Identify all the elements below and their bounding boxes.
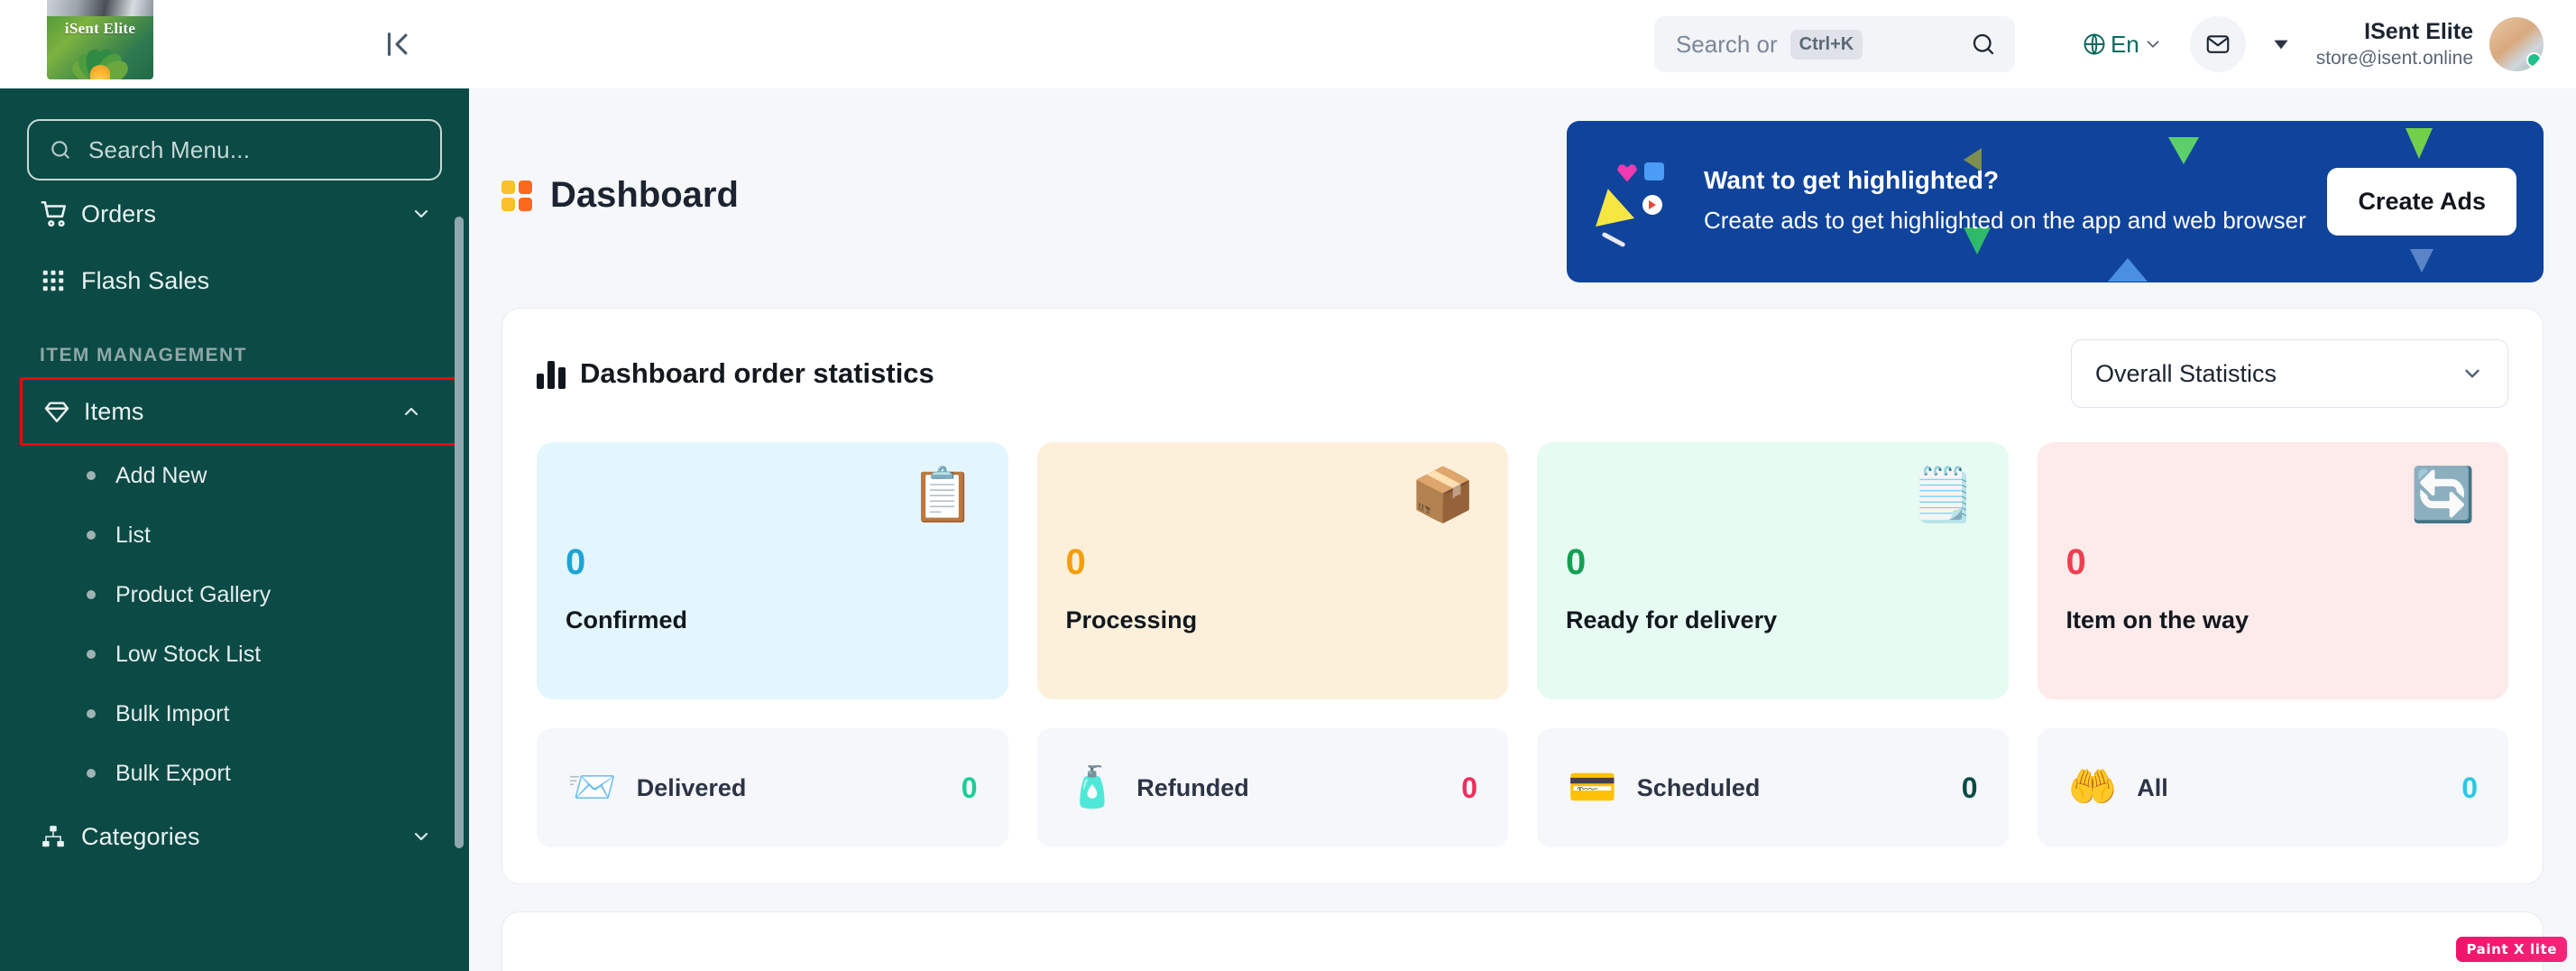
summary-card-value: 0: [1461, 772, 1477, 805]
caret-down-icon[interactable]: [2269, 32, 2293, 56]
refunded-icon: 🧴: [1068, 768, 1118, 808]
chevron-down-icon: [2461, 362, 2484, 385]
sidebar-subitem-label: List: [115, 522, 151, 549]
summary-card-value: 0: [1962, 772, 1978, 805]
sidebar-subitem-product-gallery[interactable]: Product Gallery: [0, 565, 469, 624]
status-card-value: 0: [1566, 542, 1980, 583]
sidebar-subitem-bulk-export[interactable]: Bulk Export: [0, 744, 469, 803]
status-card-value: 0: [2066, 542, 2480, 583]
globe-icon: [2082, 32, 2107, 57]
user-profile-text: ISent Elite store@isent.online: [2316, 18, 2473, 70]
cart-icon: [40, 199, 81, 229]
avatar[interactable]: [2489, 17, 2544, 71]
status-card-label: Ready for delivery: [1566, 606, 1980, 634]
watermark-badge: Paint X lite: [2456, 937, 2567, 962]
order-statistics-card: Dashboard order statistics Overall Stati…: [501, 308, 2544, 884]
next-section-card: [501, 911, 2544, 971]
sidebar-logo-area: iSent Elite: [0, 0, 469, 88]
summary-card-value: 0: [961, 772, 978, 805]
status-card-ready-for-delivery[interactable]: 🗒️ 0 Ready for delivery: [1537, 442, 2009, 699]
logo-photo: [47, 0, 153, 16]
sidebar-subitem-label: Bulk Import: [115, 701, 229, 727]
sidebar-item-flash-sales[interactable]: Flash Sales: [0, 247, 469, 314]
ads-banner: Want to get highlighted? Create ads to g…: [1567, 121, 2544, 282]
package-check-icon: 📦: [1411, 469, 1476, 522]
user-name: ISent Elite: [2316, 18, 2473, 46]
sitemap-icon: [40, 823, 81, 850]
status-card-processing[interactable]: 📦 0 Processing: [1037, 442, 1509, 699]
box-refresh-icon: 🔄: [2411, 469, 2476, 522]
chevron-down-icon: [2143, 34, 2163, 54]
page-header-row: Dashboard Want to get highlighted? Creat…: [501, 88, 2544, 282]
sidebar-menu-scroll: Search Menu... Orders: [0, 88, 469, 971]
logo-sun-icon: [90, 65, 110, 79]
bullet-icon: [87, 471, 96, 480]
decorative-triangle: [2168, 137, 2199, 164]
search-placeholder: Search or: [1676, 31, 1778, 59]
statistics-title: Dashboard order statistics: [580, 357, 934, 390]
mail-icon[interactable]: [2190, 16, 2246, 72]
search-shortcut-badge: Ctrl+K: [1790, 30, 1863, 60]
status-card-value: 0: [566, 542, 980, 583]
all-orders-icon: 🤲: [2068, 768, 2118, 808]
main-content: Dashboard Want to get highlighted? Creat…: [469, 88, 2576, 971]
chevron-down-icon: [409, 826, 433, 847]
clipboard-box-icon: 📋: [910, 469, 975, 522]
bullet-icon: [87, 769, 96, 778]
summary-card-label: Scheduled: [1637, 774, 1761, 802]
statistics-header: Dashboard order statistics Overall Stati…: [537, 339, 2508, 408]
bullet-icon: [87, 531, 96, 540]
dashboard-grid-icon: [501, 180, 532, 211]
sidebar-section-label: ITEM MANAGEMENT: [0, 314, 469, 377]
sidebar-item-label: Orders: [81, 200, 409, 228]
bullet-icon: [87, 650, 96, 659]
sidebar-item-label: Categories: [81, 823, 409, 851]
summary-card-all[interactable]: 🤲 All 0: [2038, 728, 2509, 847]
status-cards-row: 📋 0 Confirmed 📦 0 Processing 🗒️ 0 Ready …: [537, 442, 2508, 699]
status-card-label: Item on the way: [2066, 606, 2480, 634]
app-root: iSent Elite Search Menu...: [0, 0, 2576, 971]
sidebar-subitem-list[interactable]: List: [0, 505, 469, 565]
banner-text: Want to get highlighted? Create ads to g…: [1704, 166, 2326, 238]
statistics-filter-select[interactable]: Overall Statistics: [2071, 339, 2508, 408]
banner-title: Want to get highlighted?: [1704, 166, 2326, 195]
summary-cards-row: 📨 Delivered 0 🧴 Refunded 0 💳 Scheduled 0…: [537, 728, 2508, 847]
sidebar-subitem-label: Product Gallery: [115, 582, 271, 608]
collapse-left-icon[interactable]: [377, 24, 417, 64]
sidebar-subitem-label: Bulk Export: [115, 761, 231, 787]
sidebar-subitem-label: Add New: [115, 463, 207, 489]
status-card-label: Confirmed: [566, 606, 980, 634]
search-icon[interactable]: [1970, 31, 1997, 58]
status-badge: [2526, 52, 2542, 68]
summary-card-value: 0: [2461, 772, 2478, 805]
sidebar-item-categories[interactable]: Categories: [0, 803, 469, 870]
bullet-icon: [87, 709, 96, 718]
user-email: store@isent.online: [2316, 47, 2473, 70]
bullet-icon: [87, 590, 96, 599]
summary-card-label: Delivered: [637, 774, 747, 802]
decorative-triangle: [2410, 249, 2433, 273]
search-menu-input[interactable]: Search Menu...: [27, 119, 442, 180]
page-title: Dashboard: [550, 175, 739, 216]
scheduled-icon: 💳: [1568, 768, 1617, 808]
sidebar-item-items[interactable]: Items: [20, 377, 462, 446]
megaphone-icon: [1597, 157, 1680, 247]
sidebar-scrollbar[interactable]: [455, 217, 464, 848]
page-title-group: Dashboard: [501, 121, 739, 216]
status-card-value: 0: [1066, 542, 1480, 583]
sidebar-subitem-bulk-import[interactable]: Bulk Import: [0, 684, 469, 744]
summary-card-label: Refunded: [1136, 774, 1249, 802]
brand-logo[interactable]: iSent Elite: [47, 0, 153, 79]
summary-card-scheduled[interactable]: 💳 Scheduled 0: [1537, 728, 2009, 847]
logo-brand-name: iSent Elite: [65, 20, 135, 38]
top-header: Search or Ctrl+K En ISent: [469, 0, 2576, 88]
status-card-item-on-the-way[interactable]: 🔄 0 Item on the way: [2038, 442, 2509, 699]
grid-dots-icon: [40, 267, 81, 294]
sidebar-item-label: Items: [84, 398, 400, 426]
clipboard-tick-icon: 🗒️: [1910, 469, 1975, 522]
sidebar-item-label: Flash Sales: [81, 267, 433, 295]
decorative-triangle: [2108, 258, 2148, 282]
statistics-filter-value: Overall Statistics: [2095, 360, 2277, 388]
create-ads-button[interactable]: Create Ads: [2327, 168, 2516, 236]
status-card-confirmed[interactable]: 📋 0 Confirmed: [537, 442, 1008, 699]
language-switcher[interactable]: En: [2082, 31, 2163, 59]
sidebar-subitem-low-stock-list[interactable]: Low Stock List: [0, 624, 469, 684]
search-icon: [49, 138, 72, 162]
logo-flower-icon: [55, 40, 145, 79]
user-profile[interactable]: ISent Elite store@isent.online: [2316, 17, 2544, 71]
statistics-title-group: Dashboard order statistics: [537, 357, 934, 390]
status-card-label: Processing: [1066, 606, 1480, 634]
bar-chart-icon: [537, 358, 566, 389]
chevron-down-icon: [409, 203, 433, 225]
delivered-icon: 📨: [567, 768, 617, 808]
summary-card-label: All: [2137, 774, 2168, 802]
summary-card-refunded[interactable]: 🧴 Refunded 0: [1037, 728, 1509, 847]
chevron-up-icon: [400, 401, 423, 422]
sidebar-item-orders[interactable]: Orders: [0, 180, 469, 247]
sidebar-subitem-label: Low Stock List: [115, 642, 261, 668]
search-input[interactable]: Search or Ctrl+K: [1654, 16, 2015, 72]
search-menu-placeholder: Search Menu...: [88, 136, 250, 164]
sidebar-subitem-add-new[interactable]: Add New: [0, 446, 469, 505]
sidebar-submenu-items: Add New List Product Gallery Low Stock L…: [0, 446, 469, 803]
language-label: En: [2111, 31, 2139, 59]
banner-subtitle: Create ads to get highlighted on the app…: [1704, 204, 2326, 238]
decorative-triangle: [2406, 128, 2433, 159]
summary-card-delivered[interactable]: 📨 Delivered 0: [537, 728, 1008, 847]
diamond-icon: [42, 397, 84, 426]
sidebar: iSent Elite Search Menu...: [0, 0, 469, 971]
